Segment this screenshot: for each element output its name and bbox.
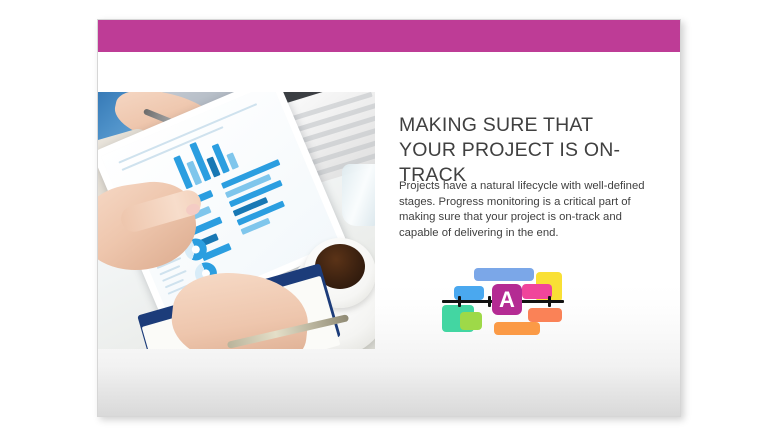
slide-body: Projects have a natural lifecycle with w… <box>399 179 645 241</box>
header-band <box>98 20 680 52</box>
slide-canvas: MAKING SURE THAT YOUR PROJECT IS ON-TRAC… <box>97 19 681 417</box>
timeline-gantt-graphic: A <box>436 260 586 338</box>
gantt-center-label: A <box>499 287 515 313</box>
bar-orange-right <box>528 308 562 322</box>
gantt-center-block: A <box>492 284 522 315</box>
bar-blue-wide-top <box>474 268 534 281</box>
hero-photo <box>98 92 375 349</box>
timeline-tick-1 <box>458 296 461 307</box>
bar-orange-bottom <box>494 322 540 335</box>
timeline-tick-2 <box>488 296 491 307</box>
bar-green-lime <box>460 312 482 330</box>
timeline-tick-4 <box>548 296 551 307</box>
photo-glass-of-water <box>342 164 375 226</box>
slide-title: MAKING SURE THAT YOUR PROJECT IS ON-TRAC… <box>399 113 649 188</box>
